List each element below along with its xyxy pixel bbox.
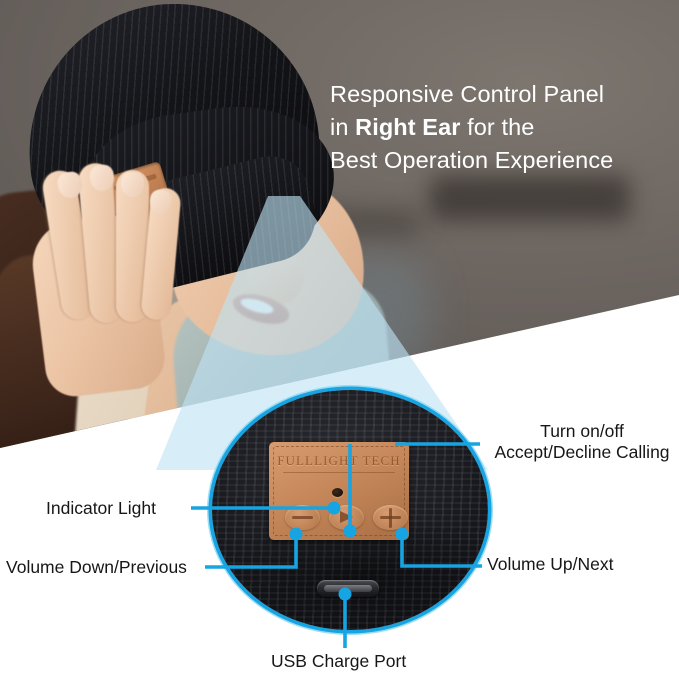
callout-label-usb-port: USB Charge Port <box>271 651 406 672</box>
fingernail <box>121 172 144 197</box>
headline-line-1: Responsive Control Panel <box>330 78 674 111</box>
plus-icon-vertical <box>389 508 392 528</box>
minus-icon <box>292 516 313 519</box>
headline-line-3: Best Operation Experience <box>330 144 674 177</box>
volume-up-button[interactable] <box>373 505 408 530</box>
volume-down-button[interactable] <box>285 505 320 530</box>
headline-line-2-prefix: in <box>330 114 355 140</box>
zoom-detail-circle: FULLLIGHT TECH <box>212 390 488 630</box>
headline-line-2: in Right Ear for the <box>330 111 674 144</box>
infographic-canvas: Responsive Control Panel in Right Ear fo… <box>0 0 679 678</box>
play-icon <box>340 511 353 523</box>
background-blur-shape <box>430 175 630 221</box>
headline-emphasis: Right Ear <box>355 114 460 140</box>
usb-charge-port <box>317 580 379 597</box>
callout-label-volume-down: Volume Down/Previous <box>6 557 187 578</box>
callout-label-power-call-line-2: Accept/Decline Calling <box>485 442 679 463</box>
patch-brand-text: FULLLIGHT TECH <box>269 453 409 469</box>
control-panel-patch: FULLLIGHT TECH <box>269 442 409 540</box>
power-call-button[interactable] <box>329 505 364 530</box>
callout-label-volume-up: Volume Up/Next <box>487 554 613 575</box>
usb-port-opening <box>324 585 372 592</box>
callout-label-power-call: Turn on/off Accept/Decline Calling <box>485 421 679 463</box>
indicator-light <box>332 488 343 497</box>
callout-label-power-call-line-1: Turn on/off <box>485 421 679 442</box>
headline-line-2-suffix: for the <box>460 114 534 140</box>
callout-label-indicator-light: Indicator Light <box>46 498 156 519</box>
headline: Responsive Control Panel in Right Ear fo… <box>330 78 674 177</box>
